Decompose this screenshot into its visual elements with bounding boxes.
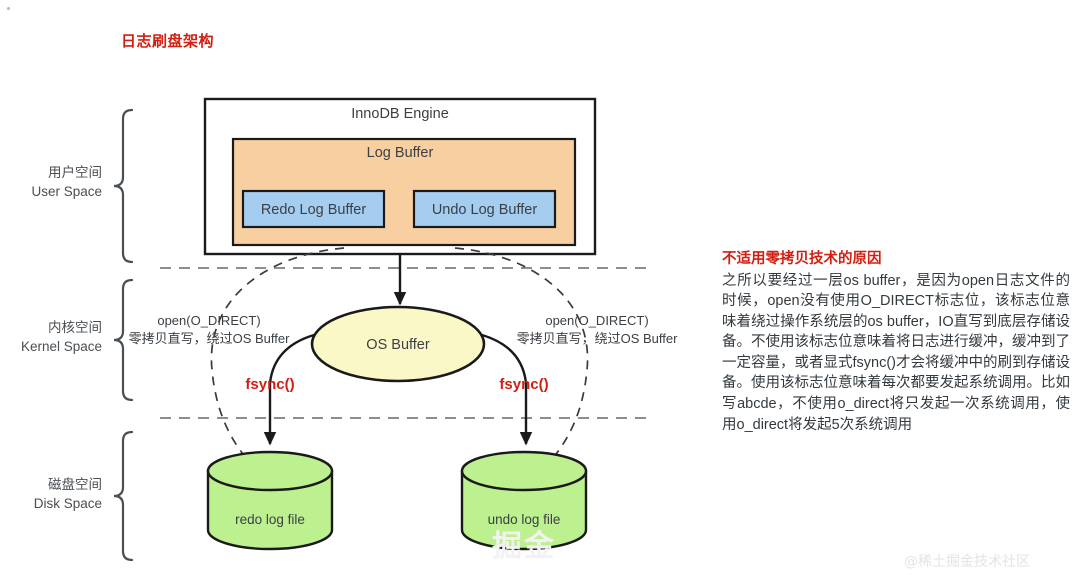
redo-log-file-label: redo log file: [235, 512, 305, 527]
undo-log-buffer-label: Undo Log Buffer: [432, 202, 538, 218]
site-watermark: @稀土掘金技术社区: [904, 551, 1030, 571]
annotation-right-line2: 零拷贝直写，绕过OS Buffer: [517, 331, 679, 346]
redo-log-file-cylinder: redo log file: [208, 452, 332, 549]
innodb-engine-label: InnoDB Engine: [351, 106, 449, 122]
brace-user-space: [114, 110, 132, 262]
diagram-canvas: 日志刷盘架构 用户空间 User Space 内核空间 Kernel Space…: [0, 0, 1091, 584]
explanation-note: 不适用零拷贝技术的原因 之所以要经过一层os buffer，是因为open日志文…: [722, 250, 1070, 435]
redo-log-buffer-label: Redo Log Buffer: [261, 202, 367, 218]
layer-label-user-en: User Space: [31, 184, 102, 199]
brace-disk-space: [114, 432, 132, 560]
layer-label-user-cn: 用户空间: [48, 164, 102, 180]
layer-label-kernel-en: Kernel Space: [21, 339, 102, 354]
ghost-watermark-text: 掘金: [492, 521, 556, 565]
log-buffer-label: Log Buffer: [367, 145, 434, 161]
layer-label-kernel-cn: 内核空间: [48, 320, 102, 335]
layer-label-disk-cn: 磁盘空间: [48, 476, 102, 492]
explanation-note-body: 之所以要经过一层os buffer，是因为open日志文件的时候，open没有使…: [722, 271, 1070, 436]
annotation-left-line1: open(O_DIRECT): [157, 313, 260, 328]
annotation-right-line1: open(O_DIRECT): [545, 313, 648, 328]
layer-label-disk-en: Disk Space: [34, 496, 102, 511]
fsync-label-right: fsync(): [499, 376, 548, 393]
explanation-note-title: 不适用零拷贝技术的原因: [722, 250, 1070, 270]
annotation-left-line2: 零拷贝直写，绕过OS Buffer: [129, 331, 291, 346]
os-buffer-label: OS Buffer: [366, 337, 430, 353]
fsync-label-left: fsync(): [245, 376, 294, 393]
